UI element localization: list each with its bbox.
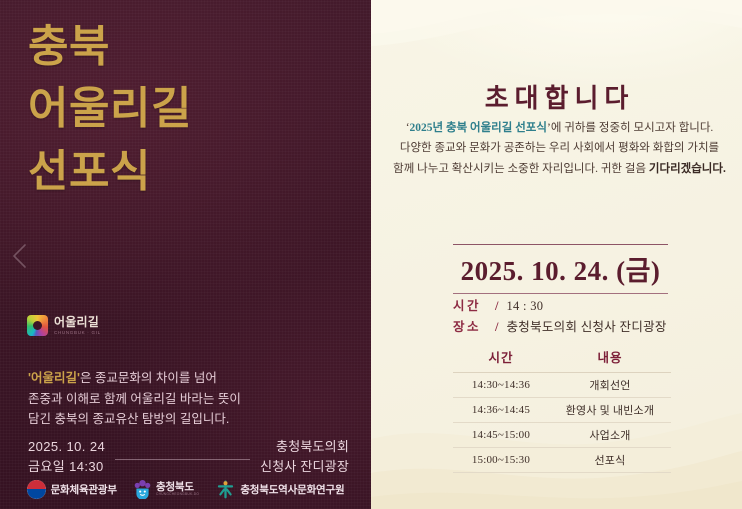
event-date: 2025. 10. 24. (금) xyxy=(453,245,668,293)
table-header-row: 시간 내용 xyxy=(453,345,671,373)
cell-content: 환영사 및 내빈소개 xyxy=(549,398,671,423)
sponsor-chungbuk: 충청북도 CHUNGCHEONGBUK-DO xyxy=(134,479,199,499)
left-panel: 충북 어울리길 선포식 어울리길 CHUNGBUK · GIL '어울리길'은 … xyxy=(0,0,371,509)
page-title: 충북 어울리길 선포식 xyxy=(28,16,192,203)
detail-separator: / xyxy=(495,317,498,338)
date-rule-bottom xyxy=(453,293,668,294)
detail-value: 14 : 30 xyxy=(506,296,543,317)
invite-line3-bold: 기다리겠습니다. xyxy=(649,163,726,175)
cell-time: 14:45~15:00 xyxy=(453,423,549,448)
table-row: 14:30~14:36 개회선언 xyxy=(453,373,671,398)
sponsor-label: 충청북도역사문화연구원 xyxy=(240,482,344,497)
detail-label: 시간 xyxy=(453,296,491,317)
event-datetime: 2025. 10. 24 금요일 14:30 xyxy=(28,437,105,476)
table-row: 14:45~15:00 사업소개 xyxy=(453,423,671,448)
table-row: 14:36~14:45 환영사 및 내빈소개 xyxy=(453,398,671,423)
cell-time: 14:30~14:36 xyxy=(453,373,549,398)
table-row: 15:00~15:30 선포식 xyxy=(453,448,671,473)
detail-row-time: 시간 / 14 : 30 xyxy=(453,296,667,317)
detail-row-place: 장소 / 충청북도의회 신청사 잔디광장 xyxy=(453,317,667,338)
chevron-left-icon[interactable] xyxy=(10,243,30,269)
cell-time: 15:00~15:30 xyxy=(453,448,549,473)
lead-highlight: '어울리길' xyxy=(28,371,80,385)
sponsor-history-institute: 충청북도역사문화연구원 xyxy=(216,480,344,499)
event-venue: 충청북도의회 신청사 잔디광장 xyxy=(260,437,349,476)
brand-subtitle: CHUNGBUK · GIL xyxy=(54,331,101,336)
right-panel: 초대합니다 ‘2025년 충북 어울리길 선포식’에 귀하를 정중히 모시고자 … xyxy=(371,0,742,509)
when-where-row: 2025. 10. 24 금요일 14:30 충청북도의회 신청사 잔디광장 xyxy=(28,437,349,476)
sponsor-mcst: 문화체육관광부 xyxy=(27,480,117,499)
event-name: 2025년 충북 어울리길 선포식 xyxy=(410,122,547,134)
invite-body-text: ‘2025년 충북 어울리길 선포식’에 귀하를 정중히 모시고자 합니다. 다… xyxy=(393,118,726,179)
event-details: 시간 / 14 : 30 장소 / 충청북도의회 신청사 잔디광장 xyxy=(453,296,667,337)
eoullilgil-logo: 어울리길 CHUNGBUK · GIL xyxy=(27,315,101,336)
event-date-block: 2025. 10. 24. (금) xyxy=(453,244,668,294)
chungbuk-emblem-icon xyxy=(134,479,151,499)
history-institute-icon xyxy=(216,480,235,499)
invite-line1-rest: 에 귀하를 정중히 모시고자 합니다. xyxy=(551,122,714,134)
sponsor-label: 문화체육관광부 xyxy=(51,482,117,497)
cell-content: 선포식 xyxy=(549,448,671,473)
column-header-time: 시간 xyxy=(453,345,549,373)
invite-line3-pre: 함께 나누고 확산시키는 소중한 자리입니다. 귀한 걸음 xyxy=(393,163,649,175)
eoullilgil-mark-icon xyxy=(27,315,48,336)
column-header-content: 내용 xyxy=(549,345,671,373)
detail-value: 충청북도의회 신청사 잔디광장 xyxy=(506,317,666,338)
sponsor-row: 문화체육관광부 xyxy=(0,479,371,499)
sponsor-label: 충청북도 xyxy=(156,482,199,493)
invite-line2: 다양한 종교와 문화가 공존하는 우리 사회에서 평화와 화합의 가치를 xyxy=(400,142,719,154)
cell-content: 개회선언 xyxy=(549,373,671,398)
lead-description: '어울리길'은 종교문화의 차이를 넘어 존중과 이해로 함께 어울리길 바라는… xyxy=(28,348,328,429)
brand-name: 어울리길 xyxy=(54,316,101,328)
detail-separator: / xyxy=(495,296,498,317)
sponsor-sublabel: CHUNGCHEONGBUK-DO xyxy=(156,493,199,496)
cell-time: 14:36~14:45 xyxy=(453,398,549,423)
detail-label: 장소 xyxy=(453,317,491,338)
event-poster: 충북 어울리길 선포식 어울리길 CHUNGBUK · GIL '어울리길'은 … xyxy=(0,0,742,509)
taegeuk-icon xyxy=(27,480,46,499)
cell-content: 사업소개 xyxy=(549,423,671,448)
divider-rule xyxy=(115,459,250,460)
invite-heading: 초대합니다 xyxy=(371,78,742,115)
schedule-table: 시간 내용 14:30~14:36 개회선언 14:36~14:45 환영사 및… xyxy=(453,345,671,473)
